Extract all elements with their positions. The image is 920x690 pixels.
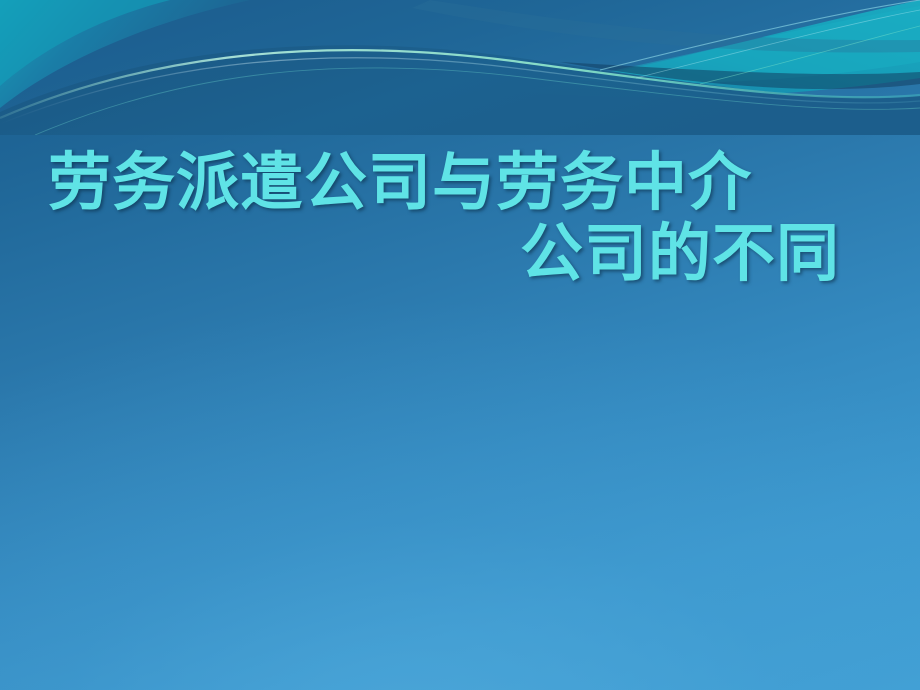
presentation-slide: 劳务派遣公司与劳务中介 公司的不同 — [0, 0, 920, 690]
wave-ribbon-band — [0, 0, 920, 135]
slide-title-line-2: 公司的不同 — [48, 219, 844, 290]
slide-title-line-1: 劳务派遣公司与劳务中介 — [48, 148, 844, 219]
slide-title[interactable]: 劳务派遣公司与劳务中介 公司的不同 — [48, 148, 844, 289]
background-sheen — [0, 0, 920, 690]
